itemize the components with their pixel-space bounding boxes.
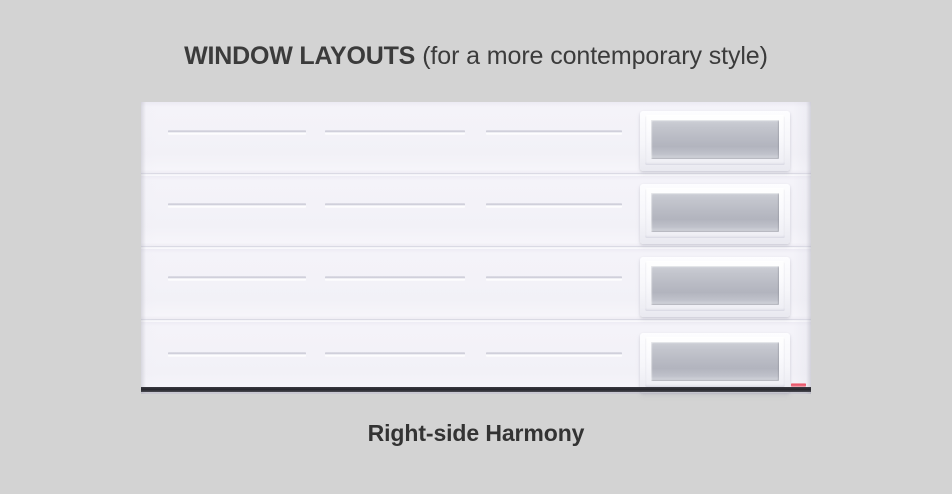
bottom-seal-shadow	[141, 392, 811, 394]
door-panel-3	[141, 248, 811, 320]
groove-line	[168, 203, 306, 208]
groove-line	[168, 276, 306, 281]
window-layouts-figure: WINDOW LAYOUTS (for a more contemporary …	[0, 0, 952, 494]
groove-line	[168, 130, 306, 135]
groove-line	[325, 276, 465, 281]
window-glass	[651, 120, 779, 159]
groove-line	[486, 203, 622, 208]
groove-line	[325, 203, 465, 208]
page-title-subtitle: (for a more contemporary style)	[422, 42, 768, 70]
window-panel-3	[645, 261, 785, 311]
door-panel-4	[141, 321, 811, 394]
door-panel-1	[141, 102, 811, 174]
window-glass	[651, 266, 779, 305]
groove-line	[486, 352, 622, 357]
panel-seam	[141, 173, 811, 176]
red-corner-marker	[791, 383, 806, 387]
window-panel-1	[645, 115, 785, 165]
groove-line	[168, 352, 306, 357]
groove-line	[486, 130, 622, 135]
window-panel-2	[645, 188, 785, 238]
groove-line	[486, 276, 622, 281]
page-title-strong: WINDOW LAYOUTS	[184, 42, 415, 70]
figure-caption: Right-side Harmony	[0, 418, 952, 448]
panel-seam	[141, 246, 811, 249]
garage-door-illustration	[141, 102, 811, 394]
groove-line	[325, 352, 465, 357]
window-glass	[651, 342, 779, 381]
panel-seam	[141, 319, 811, 322]
groove-line	[325, 130, 465, 135]
page-title: WINDOW LAYOUTS (for a more contemporary …	[0, 40, 952, 72]
window-glass	[651, 193, 779, 232]
door-panel-2	[141, 175, 811, 247]
window-panel-4	[645, 337, 785, 387]
